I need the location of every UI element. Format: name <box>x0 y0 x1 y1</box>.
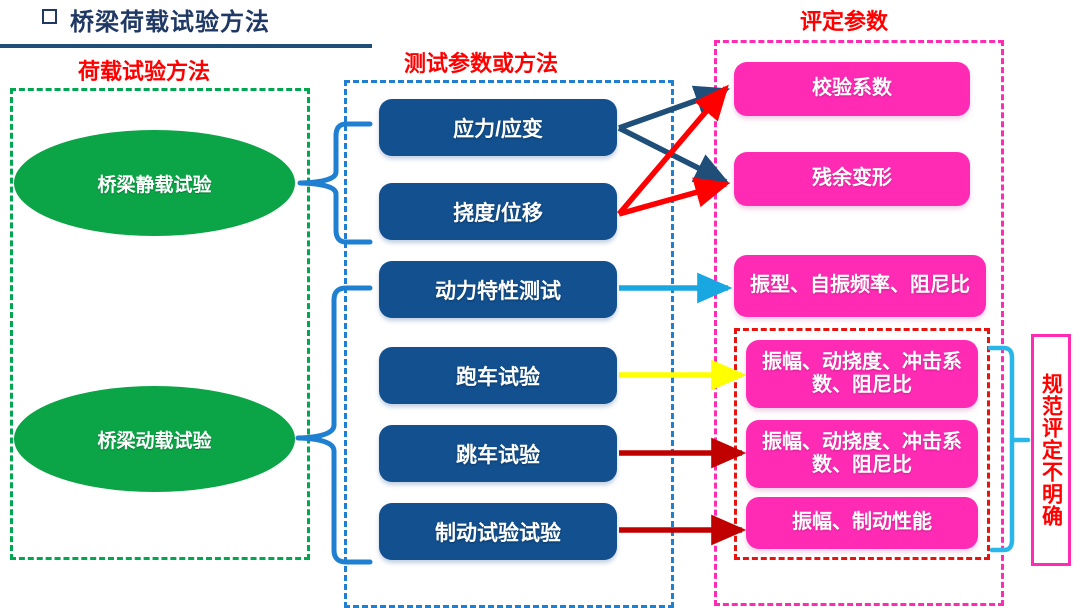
param-box-amplitude-braking[interactable]: 振幅、制动性能 <box>746 497 978 549</box>
test-box-running-vehicle[interactable]: 跑车试验 <box>379 347 617 404</box>
param-box-residual-deformation[interactable]: 残余变形 <box>734 152 970 206</box>
title-underline <box>0 44 372 48</box>
param-box-amplitude-impact-jumping[interactable]: 振幅、动挠度、冲击系数、阻尼比 <box>746 420 978 488</box>
test-box-stress-strain[interactable]: 应力/应变 <box>379 99 617 156</box>
param-box-amplitude-impact-running[interactable]: 振幅、动挠度、冲击系数、阻尼比 <box>746 340 978 408</box>
test-box-braking[interactable]: 制动试验试验 <box>379 503 617 560</box>
test-box-jumping-vehicle[interactable]: 跳车试验 <box>379 425 617 482</box>
column-caption-middle: 测试参数或方法 <box>404 46 558 78</box>
note-unclear-code-evaluation[interactable]: 规范评定不明确 <box>1031 334 1071 566</box>
test-box-deflection-displacement[interactable]: 挠度/位移 <box>379 183 617 240</box>
method-ellipse-dynamic[interactable]: 桥梁动载试验 <box>14 386 295 492</box>
method-ellipse-static[interactable]: 桥梁静载试验 <box>14 130 295 236</box>
param-box-check-coefficient[interactable]: 校验系数 <box>734 62 970 116</box>
param-box-modal-frequency-damping[interactable]: 振型、自振频率、阻尼比 <box>734 255 986 317</box>
slide-canvas: 桥梁荷载试验方法 荷载试验方法 测试参数或方法 评定参数 <box>0 0 1080 593</box>
square-bullet-icon <box>42 9 57 24</box>
test-box-dynamic-characteristics[interactable]: 动力特性测试 <box>379 261 617 318</box>
page-title: 桥梁荷载试验方法 <box>70 2 270 37</box>
column-caption-left: 荷载试验方法 <box>78 54 210 86</box>
column-caption-right: 评定参数 <box>800 4 888 36</box>
